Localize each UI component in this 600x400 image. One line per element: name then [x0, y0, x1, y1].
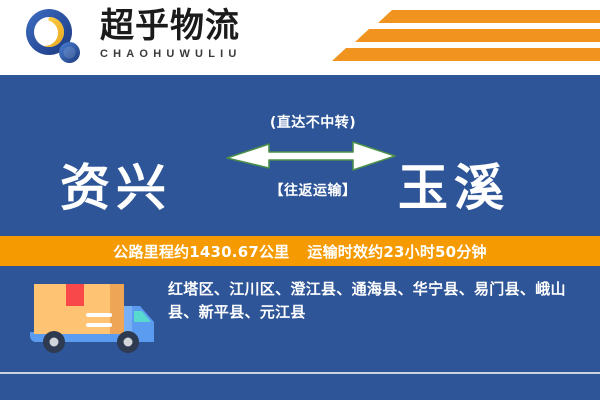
- roundtrip-note: 【往返运输】: [238, 180, 388, 200]
- coverage-areas-text: 红塔区、江川区、澄江县、通海县、华宁县、易门县、峨山县、新平县、元江县: [168, 278, 580, 324]
- bidirectional-arrow-icon: [225, 138, 397, 172]
- brand-text: 超乎物流 CHAOHUWULIU: [100, 6, 290, 70]
- duration-label: 运输时效约23小时50分钟: [307, 241, 486, 262]
- stripe-2: [355, 29, 600, 42]
- bottom-divider: [0, 372, 600, 374]
- logistics-route-banner: 超乎物流 CHAOHUWULIU 资兴 (直达不中转) 【往返运输】 玉溪 公路…: [0, 0, 600, 400]
- delivery-truck-icon: [28, 280, 158, 356]
- origin-city: 资兴: [60, 163, 172, 213]
- banner-header: 超乎物流 CHAOHUWULIU: [0, 0, 600, 75]
- brand-name-en: CHAOHUWULIU: [100, 47, 290, 61]
- coverage-section: 红塔区、江川区、澄江县、通海县、华宁县、易门县、峨山县、新平县、元江县: [0, 266, 600, 400]
- route-middle-graphic: (直达不中转) 【往返运输】: [238, 112, 388, 212]
- company-logo: [24, 8, 100, 68]
- distance-label: 公路里程约1430.67公里: [113, 241, 289, 262]
- circle-ring-logo-icon: [24, 8, 86, 66]
- route-panel: 资兴 (直达不中转) 【往返运输】 玉溪: [0, 76, 600, 233]
- header-stripes-decoration: [330, 8, 600, 68]
- direct-shipping-note: (直达不中转): [238, 112, 388, 132]
- brand-name-cn: 超乎物流: [100, 6, 290, 46]
- destination-city: 玉溪: [398, 163, 510, 213]
- route-info-bar: 公路里程约1430.67公里 运输时效约23小时50分钟: [0, 236, 600, 266]
- stripe-3: [332, 48, 600, 61]
- stripe-1: [378, 10, 600, 23]
